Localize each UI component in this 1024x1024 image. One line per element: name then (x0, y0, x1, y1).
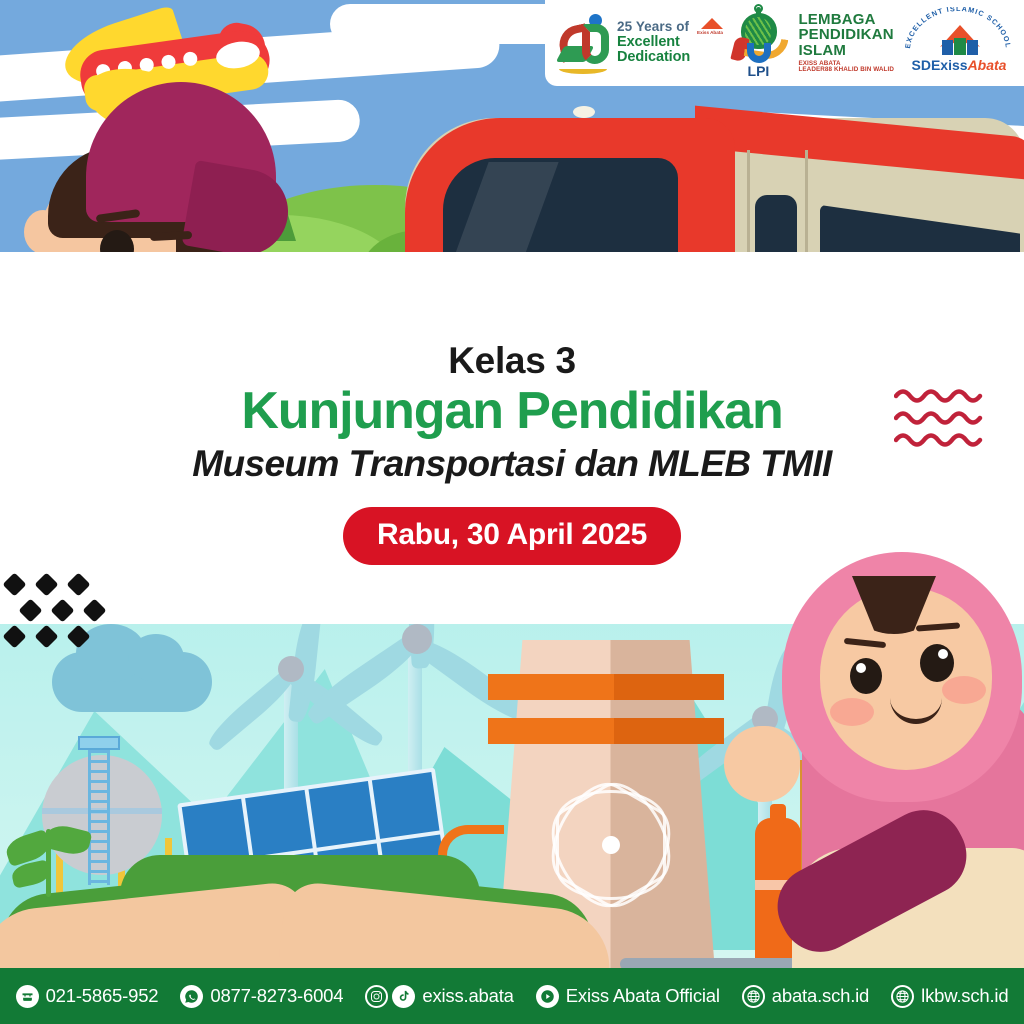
sd-prefix: SD (912, 57, 931, 73)
mini-abata-icon: Exiss Abata (697, 16, 727, 40)
footer-contact-bar: 021-5865-952 0877-8273-6004 exiss.abata (0, 968, 1024, 1024)
class-label: Kelas 3 (0, 340, 1024, 382)
blue-cloud (52, 652, 212, 712)
girl-blush (942, 676, 986, 704)
header-logo-bar: Exiss Abata 25 Years of Excellent Dedica… (545, 0, 1024, 86)
lpi-mark-icon (729, 7, 787, 65)
phone-number: 021-5865-952 (46, 985, 159, 1007)
contact-whatsapp[interactable]: 0877-8273-6004 (169, 985, 354, 1008)
contact-website-lkbw[interactable]: lkbw.sch.id (880, 985, 1019, 1008)
sd-mid: Exiss (931, 57, 968, 73)
sd-exiss-abata-logo: EXCELLENT ISLAMIC SCHOOL SDExissAbata (902, 7, 1014, 79)
contact-social[interactable]: exiss.abata (354, 985, 524, 1008)
globe-icon (891, 985, 914, 1008)
tiktok-icon (392, 985, 415, 1008)
lpi-label: LPI (726, 63, 790, 79)
date-badge: Rabu, 30 April 2025 (343, 507, 681, 565)
boy-cap-brim (181, 160, 294, 262)
whatsapp-icon (180, 985, 203, 1008)
globe-icon (742, 985, 765, 1008)
contact-phone[interactable]: 021-5865-952 (5, 985, 170, 1008)
lpi-logo: LPI (726, 7, 790, 79)
event-subtitle: Museum Transportasi dan MLEB TMII (0, 443, 1024, 485)
sd-school-name: SDExissAbata (904, 57, 1014, 73)
title-block: Kelas 3 Kunjungan Pendidikan Museum Tran… (0, 340, 1024, 565)
tower-band (488, 674, 724, 700)
sd-suffix: Abata (968, 57, 1007, 73)
phone-icon (16, 985, 39, 1008)
tower-band (488, 718, 724, 744)
instagram-tiktok-icon (365, 985, 415, 1008)
poster-canvas: Exiss Abata 25 Years of Excellent Dedica… (0, 0, 1024, 1024)
black-diamond-grid-decoration (6, 576, 96, 648)
mini-brand-label: Exiss Abata (697, 30, 723, 35)
website-url: lkbw.sch.id (921, 985, 1008, 1007)
ladder-platform (78, 736, 120, 750)
girl-blush (830, 698, 874, 726)
lembaga-line1: LEMBAGA (798, 12, 894, 27)
contact-website-abata[interactable]: abata.sch.id (731, 985, 880, 1008)
website-url: abata.sch.id (772, 985, 869, 1007)
lembaga-line3: ISLAM (798, 43, 894, 58)
girl-eye (920, 644, 954, 682)
train-headlight (573, 106, 595, 118)
lembaga-sub2: LEADER88 KHALID BIN WALID (798, 67, 894, 73)
youtube-channel: Exiss Abata Official (566, 985, 720, 1007)
whatsapp-number: 0877-8273-6004 (210, 985, 343, 1007)
lembaga-pendidikan-islam-logo: LEMBAGA PENDIDIKAN ISLAM EXISS ABATA LEA… (798, 12, 894, 74)
girl-eye (850, 658, 882, 694)
event-title: Kunjungan Pendidikan (0, 384, 1024, 439)
contact-youtube[interactable]: Exiss Abata Official (525, 985, 731, 1008)
social-handle: exiss.abata (422, 985, 513, 1007)
25-anniversary-mark-icon (557, 12, 611, 74)
instagram-icon (365, 985, 388, 1008)
youtube-icon (536, 985, 559, 1008)
house-blocks-icon (942, 40, 978, 56)
lembaga-line2: PENDIDIKAN (798, 27, 894, 42)
plant-sprout (4, 815, 94, 905)
girl-character (742, 548, 1024, 988)
girl-hand (724, 726, 800, 802)
25-years-logo: Exiss Abata 25 Years of Excellent Dedica… (557, 12, 718, 74)
